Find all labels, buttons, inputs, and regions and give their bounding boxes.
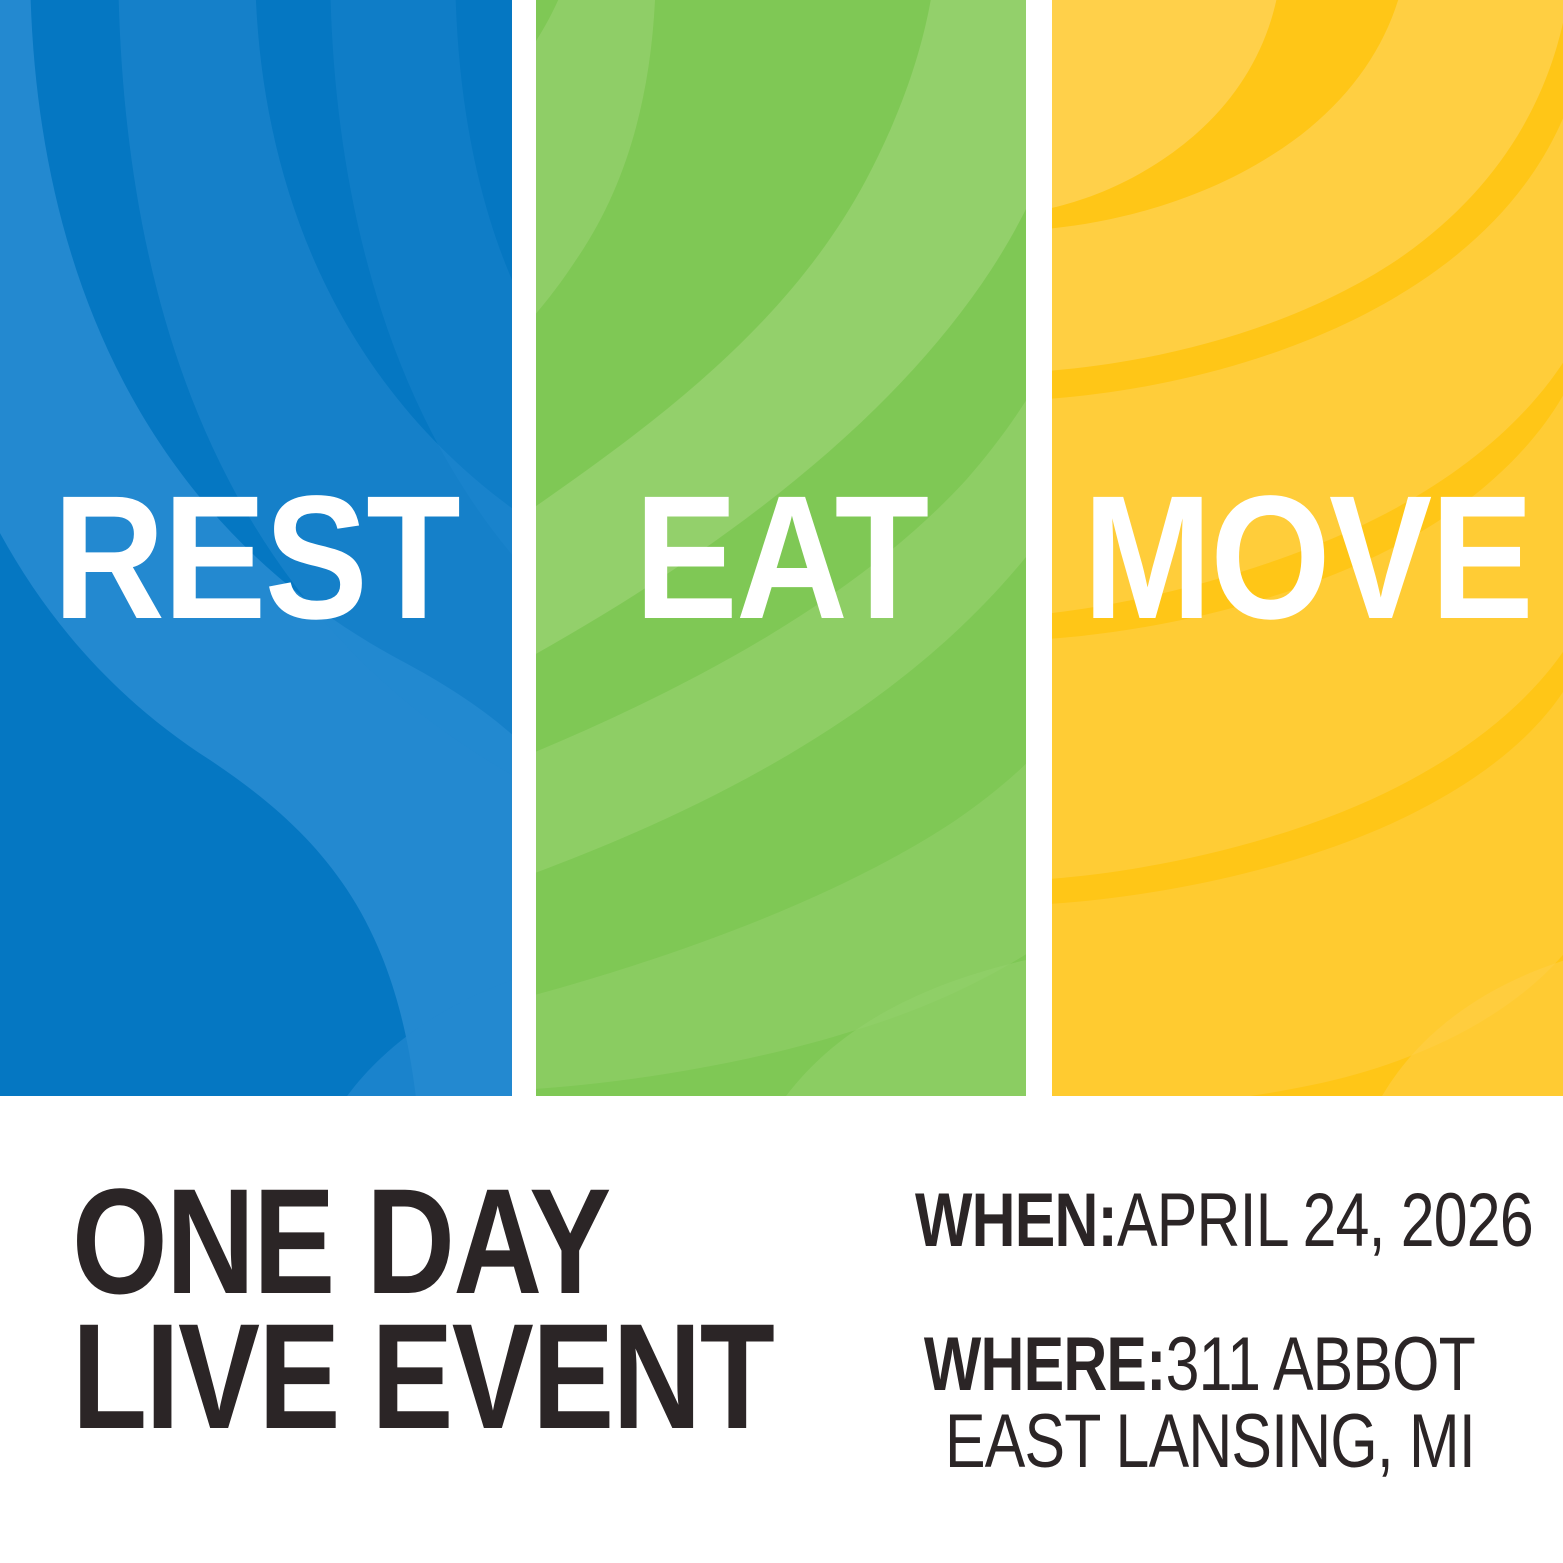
color-band: REST EAT <box>0 0 1563 1096</box>
event-headline: ONE DAY LIVE EVENT <box>72 1174 773 1444</box>
poster-canvas: REST EAT <box>0 0 1563 1563</box>
panel-rest-label: REST <box>31 470 482 646</box>
panel-rest[interactable]: REST <box>0 0 512 1096</box>
headline-line-2: LIVE EVENT <box>72 1309 773 1444</box>
where-value-line-2: EAST LANSING, MI <box>915 1403 1475 1481</box>
panel-eat[interactable]: EAT <box>536 0 1026 1096</box>
panel-move[interactable]: MOVE <box>1052 0 1563 1096</box>
where-row: WHERE:311 ABBOT <box>915 1326 1475 1404</box>
panel-move-label: MOVE <box>1083 470 1533 646</box>
info-section: ONE DAY LIVE EVENT WHEN:APRIL 24, 2026 W… <box>0 1096 1563 1563</box>
when-row: WHEN:APRIL 24, 2026 <box>915 1182 1475 1260</box>
headline-line-1: ONE DAY <box>72 1174 773 1309</box>
where-value: 311 ABBOT <box>1166 1322 1475 1407</box>
where-label: WHERE: <box>924 1322 1166 1407</box>
when-value: APRIL 24, 2026 <box>1117 1178 1533 1263</box>
when-label: WHEN: <box>915 1178 1117 1263</box>
panel-eat-label: EAT <box>565 470 996 646</box>
event-details: WHEN:APRIL 24, 2026 WHERE:311 ABBOT EAST… <box>775 1182 1475 1481</box>
